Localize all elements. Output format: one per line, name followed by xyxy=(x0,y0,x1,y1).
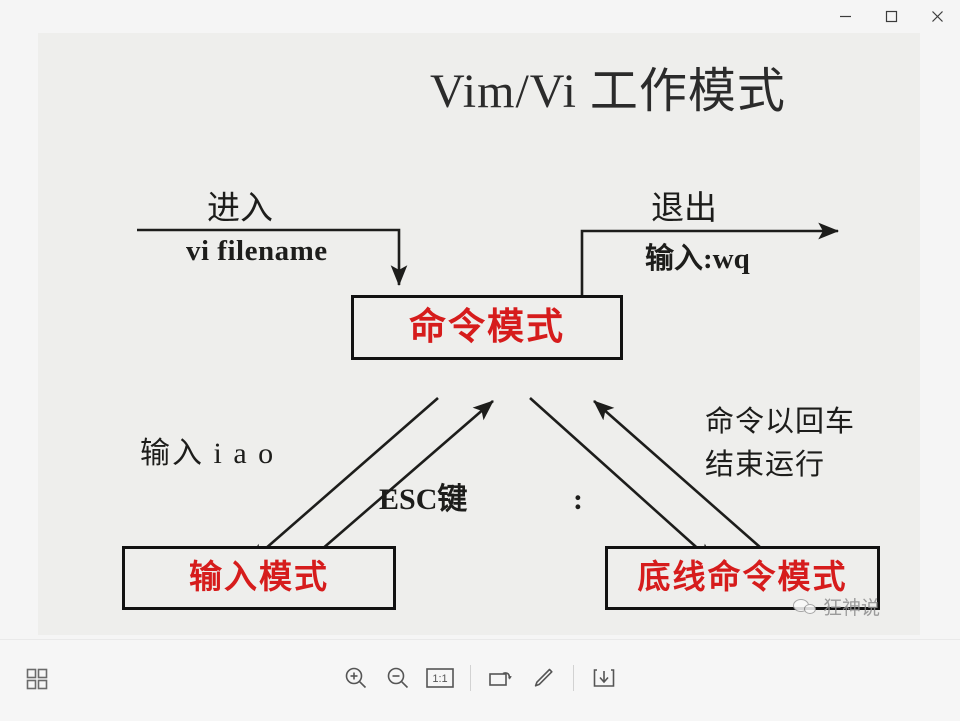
close-icon xyxy=(931,10,944,23)
toolbar-actions: 1:1 xyxy=(0,658,960,698)
page-title: Vim/Vi 工作模式 xyxy=(430,68,786,116)
label-esc-key: ESC键 xyxy=(379,485,467,515)
wechat-logo-icon xyxy=(793,597,819,617)
edit-button[interactable] xyxy=(522,658,564,698)
zoom-in-button[interactable] xyxy=(335,658,377,698)
image-viewer-window: Vim/Vi 工作模式 进入 vi filename 退出 输入:wq 输入 i… xyxy=(0,0,960,721)
box-command-mode[interactable]: 命令模式 xyxy=(351,295,623,360)
rotate-icon xyxy=(487,665,515,691)
box-insert-mode[interactable]: 输入模式 xyxy=(122,546,396,610)
label-insert-keys: 输入 i a o xyxy=(140,439,275,469)
save-button[interactable] xyxy=(583,658,625,698)
zoom-out-button[interactable] xyxy=(377,658,419,698)
close-button[interactable] xyxy=(914,0,960,33)
minimize-icon xyxy=(839,10,852,23)
bottom-toolbar: 1:1 xyxy=(0,639,960,721)
maximize-button[interactable] xyxy=(868,0,914,33)
label-enter-top: 进入 xyxy=(207,193,273,226)
box-command-mode-label: 命令模式 xyxy=(409,309,565,346)
rotate-button[interactable] xyxy=(480,658,522,698)
watermark: 狂神说 xyxy=(793,593,880,620)
zoom-out-icon xyxy=(385,665,411,691)
minimize-button[interactable] xyxy=(822,0,868,33)
actual-size-button[interactable]: 1:1 xyxy=(419,658,461,698)
box-insert-mode-label: 输入模式 xyxy=(189,562,329,595)
label-run-note-line2: 结束运行 xyxy=(705,451,825,480)
box-lastline-mode-label: 底线命令模式 xyxy=(638,562,848,595)
image-canvas[interactable]: Vim/Vi 工作模式 进入 vi filename 退出 输入:wq 输入 i… xyxy=(38,33,920,635)
title-bar xyxy=(0,0,960,33)
one-to-one-icon: 1:1 xyxy=(425,666,455,690)
download-icon xyxy=(591,665,617,691)
label-colon: : xyxy=(573,485,583,515)
maximize-icon xyxy=(885,10,898,23)
zoom-in-icon xyxy=(343,665,369,691)
label-exit-command: 输入:wq xyxy=(645,245,750,274)
pencil-icon xyxy=(530,665,556,691)
label-run-note-line1: 命令以回车 xyxy=(705,408,855,437)
watermark-text: 狂神说 xyxy=(823,593,880,620)
label-exit-top: 退出 xyxy=(651,193,717,226)
toolbar-divider-1 xyxy=(470,665,471,691)
svg-text:1:1: 1:1 xyxy=(432,673,447,685)
toolbar-divider-2 xyxy=(573,665,574,691)
label-enter-command: vi filename xyxy=(186,237,328,266)
